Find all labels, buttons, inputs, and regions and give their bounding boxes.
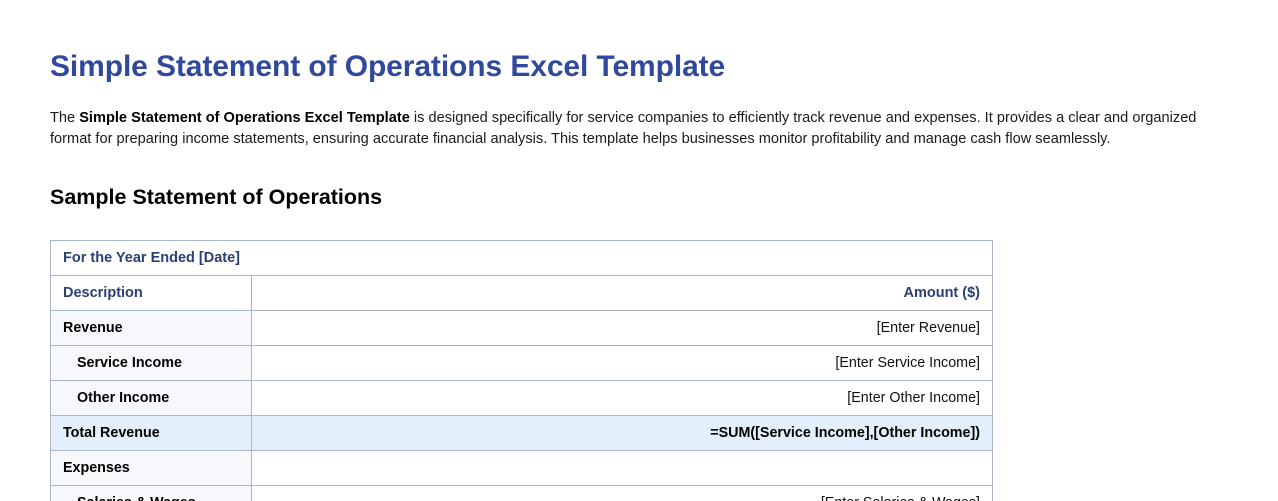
row-description-cell[interactable]: Other Income [51,381,252,416]
page-title: Simple Statement of Operations Excel Tem… [50,47,725,87]
row-amount-cell[interactable]: [Enter Other Income] [252,381,993,416]
statement-of-operations-table: For the Year Ended [Date] Description Am… [50,240,993,501]
row-description-cell[interactable]: Expenses [51,451,252,486]
document-page: Simple Statement of Operations Excel Tem… [0,0,1278,501]
row-description-cell[interactable]: Total Revenue [51,416,252,451]
table-body: For the Year Ended [Date] Description Am… [51,241,993,501]
section-title: Sample Statement of Operations [50,183,382,211]
row-amount-cell[interactable] [252,451,993,486]
period-label-cell: For the Year Ended [Date] [51,241,993,276]
table-row: Revenue[Enter Revenue] [51,311,993,346]
statement-table-container: For the Year Ended [Date] Description Am… [50,240,992,501]
table-period-row: For the Year Ended [Date] [51,241,993,276]
column-header-amount: Amount ($) [252,276,993,311]
intro-paragraph: The Simple Statement of Operations Excel… [50,108,1202,149]
row-description-cell[interactable]: Revenue [51,311,252,346]
table-row: Salaries & Wages[Enter Salaries & Wages] [51,486,993,501]
row-description-cell[interactable]: Salaries & Wages [51,486,252,501]
intro-bold-template-name: Simple Statement of Operations Excel Tem… [79,110,410,126]
row-amount-cell[interactable]: [Enter Salaries & Wages] [252,486,993,501]
row-amount-cell[interactable]: [Enter Service Income] [252,346,993,381]
intro-lead: The [50,110,79,126]
table-row: Total Revenue=SUM([Service Income],[Othe… [51,416,993,451]
row-amount-cell[interactable]: =SUM([Service Income],[Other Income]) [252,416,993,451]
row-amount-cell[interactable]: [Enter Revenue] [252,311,993,346]
table-row: Other Income[Enter Other Income] [51,381,993,416]
column-header-description: Description [51,276,252,311]
table-row: Service Income[Enter Service Income] [51,346,993,381]
table-header-row: Description Amount ($) [51,276,993,311]
row-description-cell[interactable]: Service Income [51,346,252,381]
table-row: Expenses [51,451,993,486]
